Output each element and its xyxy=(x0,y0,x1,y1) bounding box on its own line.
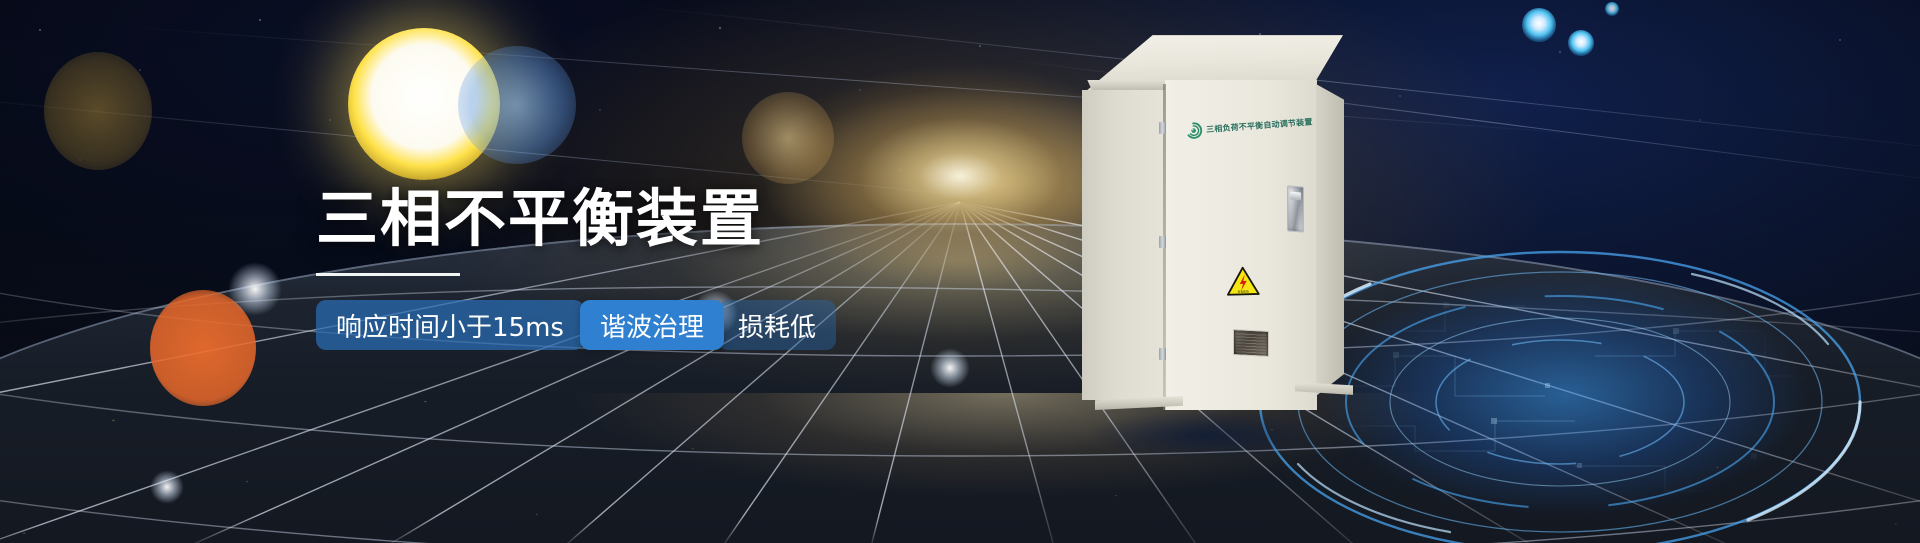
feature-tag-low-loss[interactable]: 损耗低 xyxy=(718,300,836,350)
headline-divider xyxy=(316,273,460,276)
ventilation-grille xyxy=(1233,329,1269,357)
banner-content: 三相不平衡装置 响应时间小于15ms 谐波治理 损耗低 xyxy=(316,186,936,350)
green-circular-leaf-logo-icon xyxy=(1185,121,1203,139)
feature-tag-response-time[interactable]: 响应时间小于15ms xyxy=(316,300,584,350)
network-lines xyxy=(0,120,1920,543)
door-handle[interactable] xyxy=(1287,185,1304,232)
feature-tag-list: 响应时间小于15ms 谐波治理 损耗低 xyxy=(316,300,936,350)
product-cabinet: 三相负荷不平衡自动调节装置 有电危险 xyxy=(1055,18,1355,438)
warning-label-text: 有电危险 xyxy=(1238,290,1250,294)
cabinet-label-text: 三相负荷不平衡自动调节装置 xyxy=(1206,116,1313,135)
network-lines-svg xyxy=(0,120,1920,543)
high-voltage-warning-icon: 有电危险 xyxy=(1226,266,1261,297)
hero-banner: 三相负荷不平衡自动调节装置 有电危险 三相不平衡装置 响应时间小于15ms 谐波… xyxy=(0,0,1920,543)
feature-tag-harmonic-treatment[interactable]: 谐波治理 xyxy=(580,300,724,350)
banner-headline: 三相不平衡装置 xyxy=(316,186,936,251)
door-hinge xyxy=(1159,122,1166,134)
door-hinge xyxy=(1159,236,1166,248)
door-hinge xyxy=(1159,348,1166,360)
cabinet-right-edge xyxy=(1316,84,1344,396)
cabinet-side-panel xyxy=(1082,90,1166,400)
